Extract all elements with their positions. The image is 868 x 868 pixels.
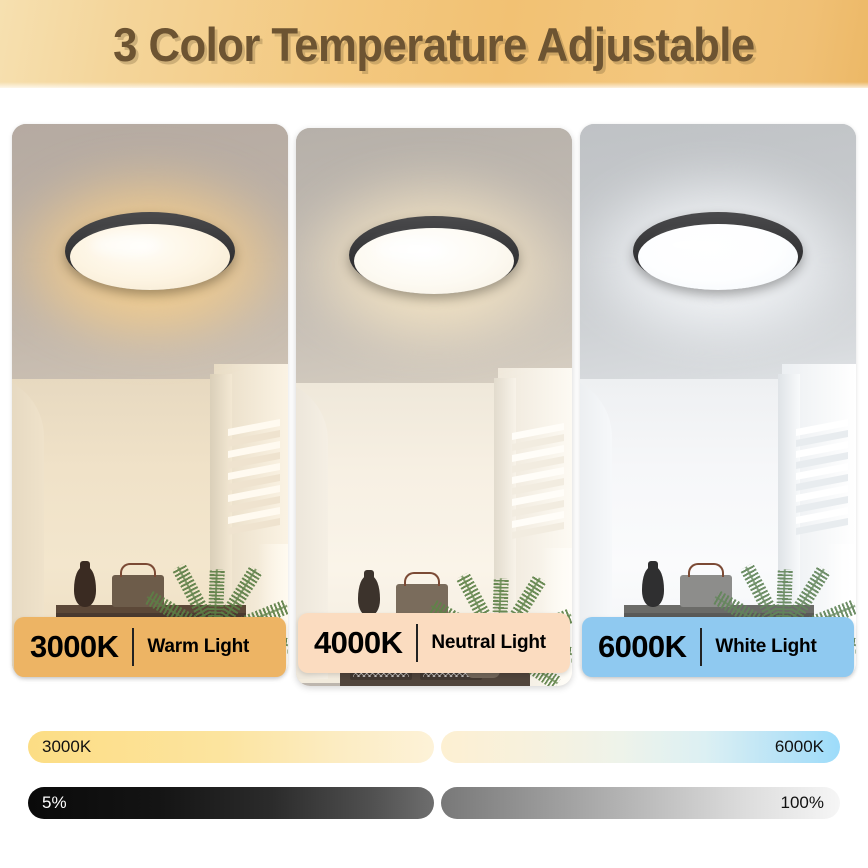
color-label: White Light (715, 636, 816, 658)
color-label: Warm Light (147, 636, 249, 658)
dimming-bar-right[interactable]: 100% (441, 787, 840, 819)
panel-white[interactable] (580, 124, 856, 677)
decor-vase (358, 576, 380, 616)
cct-right-label: 6000K (775, 737, 840, 757)
dimming-min-label: 5% (28, 793, 67, 813)
scene-hallway-warm (12, 124, 288, 677)
dimming-max-label: 100% (781, 793, 840, 813)
ceiling-light-white (625, 198, 811, 306)
lamp-gloss (375, 238, 445, 260)
badge-divider (700, 628, 702, 666)
color-label: Neutral Light (431, 632, 546, 654)
lamp-diffuser (70, 224, 230, 290)
panel-neutral[interactable] (296, 128, 572, 686)
product-infographic: 3 Color Temperature Adjustable (0, 0, 868, 868)
badge-divider (132, 628, 134, 666)
kelvin-value: 6000K (582, 629, 686, 665)
ceiling-light-warm (57, 198, 243, 306)
scene-hallway-white (580, 124, 856, 677)
panel-warm[interactable] (12, 124, 288, 677)
dimming-bar-left[interactable]: 5% (28, 787, 434, 819)
lamp-diffuser (354, 228, 514, 294)
cct-bar-left[interactable]: 3000K (28, 731, 434, 763)
decor-vase (642, 567, 664, 607)
badge-white: 6000K White Light (582, 617, 854, 677)
cct-left-label: 3000K (28, 737, 91, 757)
badge-neutral: 4000K Neutral Light (298, 613, 570, 673)
ceiling-light-neutral (341, 202, 527, 310)
kelvin-value: 4000K (298, 625, 402, 661)
badge-divider (416, 624, 418, 662)
cct-bar-right[interactable]: 6000K (441, 731, 840, 763)
lamp-gloss (91, 234, 161, 256)
panel-row: 3000K Warm Light 4000K Neutral Light 600… (0, 0, 868, 700)
lamp-gloss (659, 234, 729, 256)
decor-vase (74, 567, 96, 607)
badge-warm: 3000K Warm Light (14, 617, 286, 677)
scene-hallway-neutral (296, 128, 572, 686)
kelvin-value: 3000K (14, 629, 118, 665)
lamp-diffuser (638, 224, 798, 290)
